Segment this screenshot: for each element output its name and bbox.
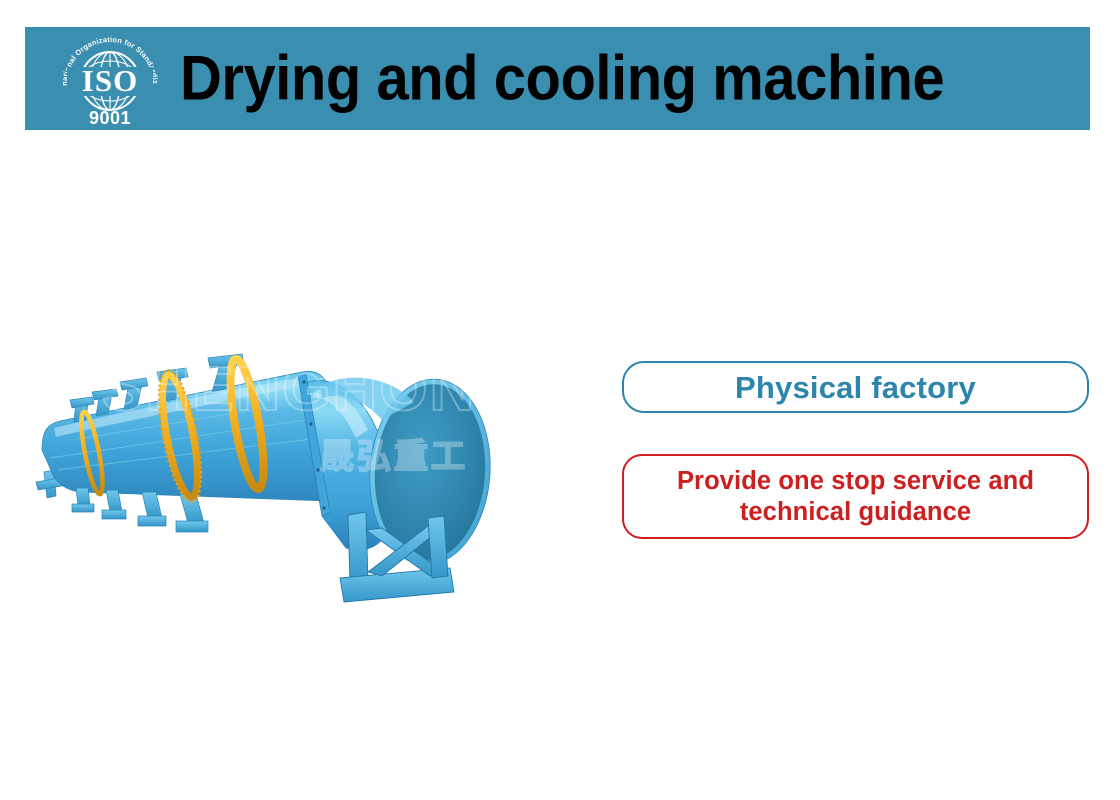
callout-service-line2: technical guidance — [740, 498, 971, 526]
callout-physical-factory-label: Physical factory — [735, 372, 976, 403]
svg-text:9001: 9001 — [89, 108, 131, 128]
header-banner: International Organization for Standardi… — [25, 27, 1090, 130]
callout-physical-factory: Physical factory — [622, 361, 1089, 413]
product-image: SHENGHONG 晟弘重工 — [30, 320, 610, 610]
page-title-text: Drying and cooling machine — [180, 47, 944, 110]
watermark-text-cn: 晟弘重工 — [320, 437, 468, 477]
callout-service-line1: Provide one stop service and — [677, 467, 1034, 495]
page-title: Drying and cooling machine — [180, 47, 1011, 110]
svg-text:ISO: ISO — [82, 63, 138, 98]
callout-service-guidance: Provide one stop service and technical g… — [622, 454, 1089, 539]
iso-9001-badge: International Organization for Standardi… — [55, 29, 165, 129]
callout-service-guidance-label: Provide one stop service and technical g… — [665, 466, 1046, 526]
watermark-text: SHENGHONG — [102, 355, 526, 424]
